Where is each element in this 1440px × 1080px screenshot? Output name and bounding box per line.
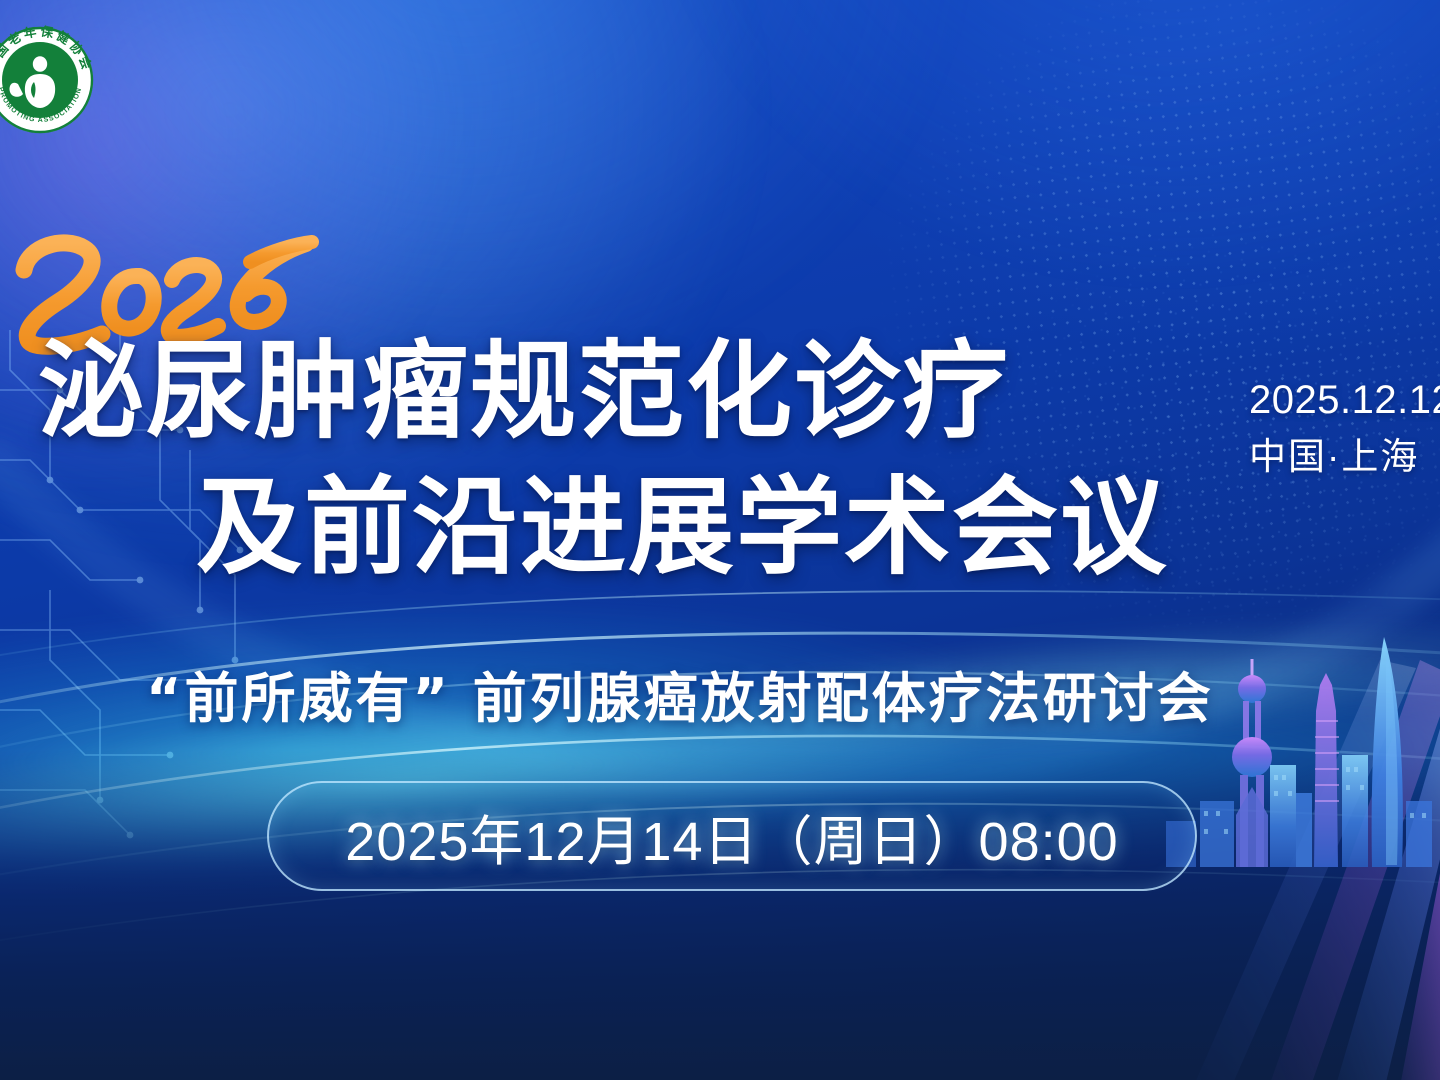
association-logo: 中国老年保健协会 PROMOTING ASSOCIATION [0,24,96,136]
title-line-2: 及前沿进展学术会议 [196,474,1168,582]
event-city: 中国·上海 [1249,426,1419,480]
poster-canvas: 中国老年保健协会 PROMOTING ASSOCIATION [0,0,1440,1080]
event-date-range: 2025.12.12-1 [1249,378,1440,423]
title-line-1: 泌尿肿瘤规范化诊疗 [38,338,1010,446]
subtitle: “前所威有” 前列腺癌放射配体疗法研讨会 [146,654,1214,733]
session-datetime-pill[interactable]: 2025年12月14日（周日）08:00 [267,781,1197,891]
session-datetime-text: 2025年12月14日（周日）08:00 [345,797,1118,876]
